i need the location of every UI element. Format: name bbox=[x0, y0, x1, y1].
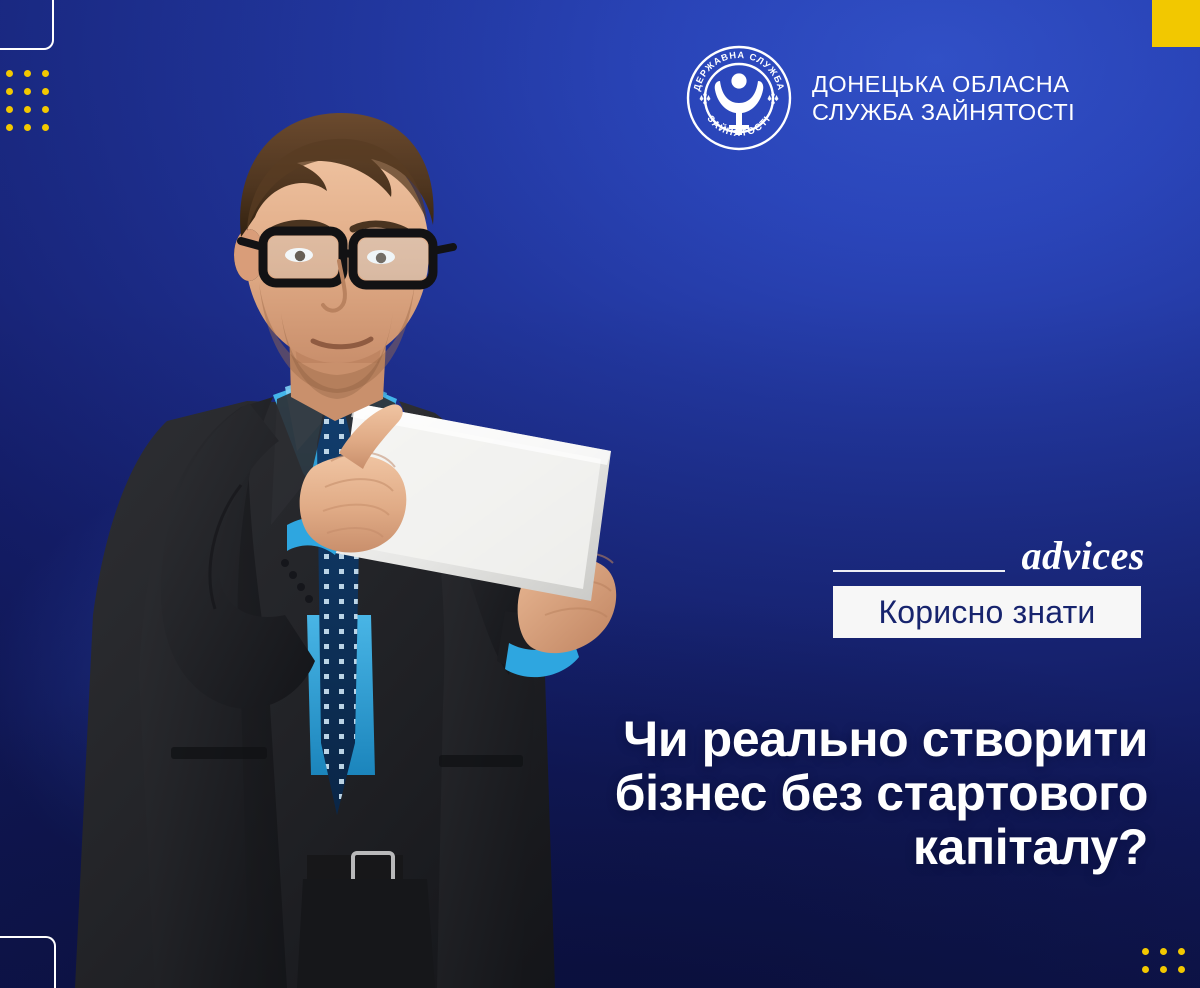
employment-service-emblem: ДЕРЖАВНА СЛУЖБА ЗАЙНЯТОСТІ bbox=[686, 45, 792, 151]
corner-frame-top-left bbox=[0, 0, 54, 50]
dot bbox=[1160, 966, 1167, 973]
brand-header: ДЕРЖАВНА СЛУЖБА ЗАЙНЯТОСТІ ДОНЕЦЬКА ОБЛА… bbox=[686, 45, 1075, 151]
headline-text: Чи реально створити бізнес без стартовог… bbox=[470, 712, 1148, 874]
dot bbox=[1160, 948, 1167, 955]
dot bbox=[6, 88, 13, 95]
dot bbox=[6, 124, 13, 131]
useful-to-know-label: Корисно знати bbox=[878, 596, 1095, 628]
dot bbox=[1178, 966, 1185, 973]
dot bbox=[6, 70, 13, 77]
dot-grid-bottom-right bbox=[1142, 948, 1196, 984]
dot bbox=[24, 124, 31, 131]
kicker-rule bbox=[833, 570, 1005, 572]
dot bbox=[1142, 966, 1149, 973]
dot bbox=[24, 70, 31, 77]
dot bbox=[24, 88, 31, 95]
dot bbox=[1178, 948, 1185, 955]
kicker-label: advices bbox=[1022, 536, 1145, 576]
yellow-corner-block-top-right bbox=[1152, 0, 1200, 47]
dot bbox=[1142, 948, 1149, 955]
dot bbox=[24, 106, 31, 113]
advices-kicker-row: advices bbox=[833, 540, 1145, 580]
promo-banner: ДЕРЖАВНА СЛУЖБА ЗАЙНЯТОСТІ ДОНЕЦЬКА ОБЛА… bbox=[0, 0, 1200, 988]
dot bbox=[6, 106, 13, 113]
organization-name: ДОНЕЦЬКА ОБЛАСНА СЛУЖБА ЗАЙНЯТОСТІ bbox=[812, 70, 1075, 126]
useful-to-know-chip: Корисно знати bbox=[833, 586, 1141, 638]
